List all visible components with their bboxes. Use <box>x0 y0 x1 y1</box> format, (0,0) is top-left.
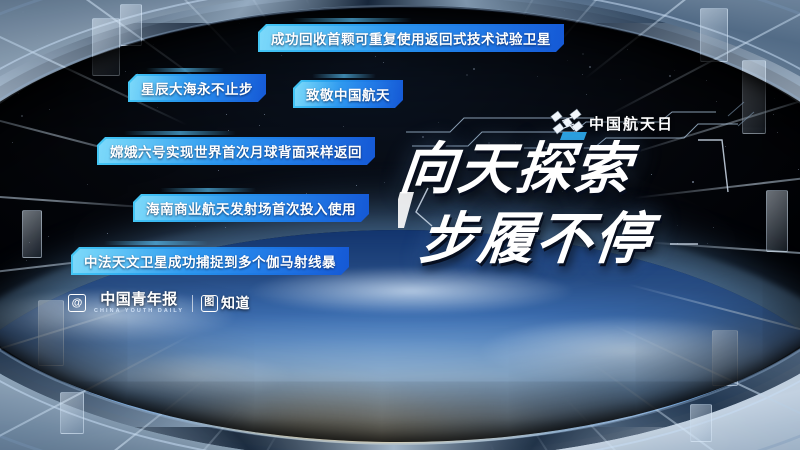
logo-divider <box>192 295 193 312</box>
tag-svom-gamma-burst[interactable]: 中法天文卫星成功捕捉到多个伽马射线暴 <box>71 247 349 275</box>
event-label: 中国航天日 <box>589 113 674 134</box>
tag-label: 星辰大海永不止步 <box>141 78 253 98</box>
tag-label: 嫦娥六号实现世界首次月球背面采样返回 <box>110 141 362 161</box>
tag-decoration <box>104 241 208 245</box>
tag-change-6[interactable]: 嫦娥六号实现世界首次月球背面采样返回 <box>97 137 375 165</box>
tag-label: 中法天文卫星成功捕捉到多个伽马射线暴 <box>84 251 336 271</box>
tag-recoverable-satellite[interactable]: 成功回收首颗可重复使用返回式技术试验卫星 <box>258 24 564 52</box>
at-symbol-icon: @ <box>68 294 86 312</box>
poster-canvas: 成功回收首颗可重复使用返回式技术试验卫星 星辰大海永不止步 致敬中国航天 嫦娥六… <box>0 0 800 450</box>
tag-label: 致敬中国航天 <box>306 84 390 104</box>
tag-decoration <box>146 68 224 72</box>
tag-decoration <box>312 74 376 78</box>
publisher-name-block: 中国青年报 CHINA YOUTH DAILY <box>94 292 184 314</box>
column-name: 知道 <box>221 293 250 313</box>
tag-hainan-launch-site[interactable]: 海南商业航天发射场首次投入使用 <box>133 194 369 222</box>
headline-line-1: 向天探索 <box>397 142 635 198</box>
column-logo[interactable]: 图 知道 <box>201 293 250 313</box>
publisher-logo-bar[interactable]: @ 中国青年报 CHINA YOUTH DAILY 图 知道 <box>68 292 250 314</box>
tag-decoration <box>124 131 236 135</box>
tag-salute-aerospace[interactable]: 致敬中国航天 <box>293 80 403 108</box>
tag-label: 成功回收首颗可重复使用返回式技术试验卫星 <box>271 28 551 48</box>
headline-line-2: 步履不停 <box>417 212 655 268</box>
column-badge-icon: 图 <box>201 295 218 312</box>
publisher-name-en: CHINA YOUTH DAILY <box>94 309 184 314</box>
tag-decoration <box>292 18 412 22</box>
satellite-icon <box>550 108 584 138</box>
tag-sea-of-stars[interactable]: 星辰大海永不止步 <box>128 74 266 102</box>
tag-decoration <box>160 188 256 192</box>
tag-label: 海南商业航天发射场首次投入使用 <box>146 198 356 218</box>
event-label-row: 中国航天日 <box>550 108 674 138</box>
headline-block: 中国航天日 向天探索 步履不停 <box>398 96 790 304</box>
publisher-name-cn: 中国青年报 <box>100 292 178 307</box>
